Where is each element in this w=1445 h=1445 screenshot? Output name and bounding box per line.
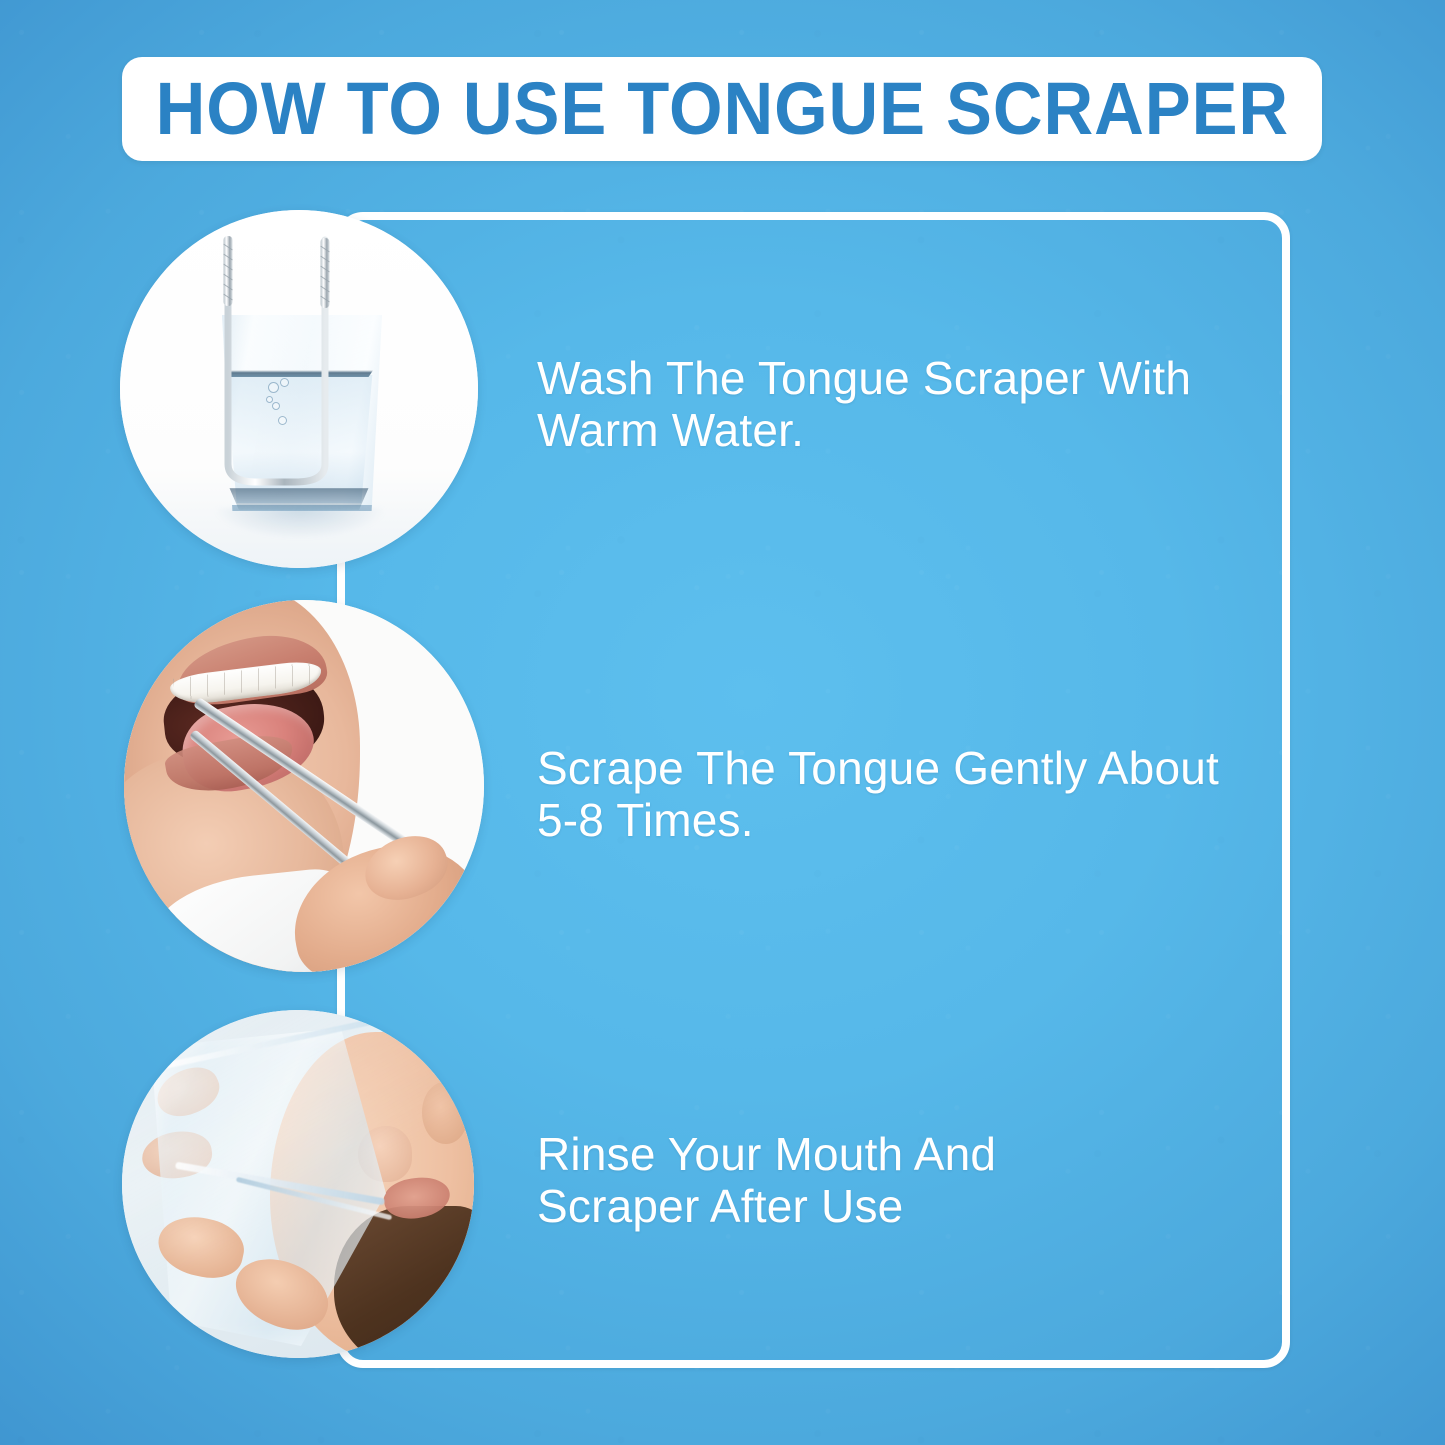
- step-3-image-rinsing-mouth: [122, 1010, 474, 1358]
- glass-reflection: [215, 508, 385, 538]
- page-title: HOW TO USE TONGUE SCRAPER: [155, 72, 1288, 146]
- step-2-caption: Scrape The Tongue Gently About 5-8 Times…: [537, 742, 1237, 846]
- tongue-scraper-icon: [215, 228, 350, 488]
- step-3-caption: Rinse Your Mouth And Scraper After Use: [537, 1128, 1157, 1232]
- step-1-image-glass-of-water: [120, 210, 478, 568]
- glass-base-shadow: [220, 488, 378, 510]
- infographic-poster: HOW TO USE TONGUE SCRAPER: [0, 0, 1445, 1445]
- step-2-image-scraping-tongue: [124, 600, 484, 972]
- glass-haze-overlay: [122, 1010, 474, 1358]
- step-1-caption: Wash The Tongue Scraper With Warm Water.: [537, 352, 1277, 456]
- title-banner: HOW TO USE TONGUE SCRAPER: [122, 57, 1322, 161]
